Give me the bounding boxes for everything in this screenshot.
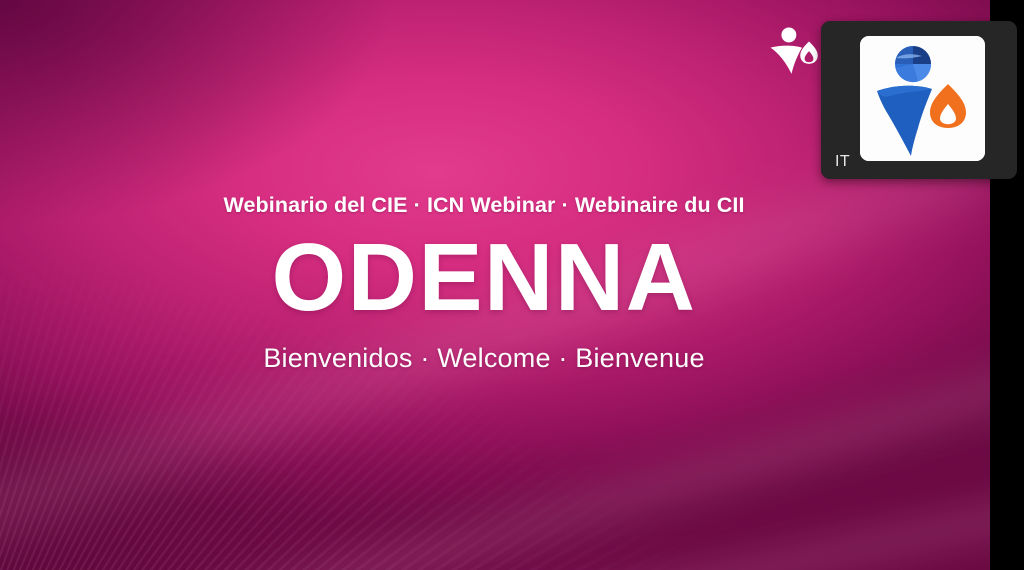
screen-share-view: Webinario del CIE · ICN Webinar · Webina… (0, 0, 1024, 570)
participant-video-tile[interactable]: IT (821, 21, 1017, 179)
slide-eyebrow-text: Webinario del CIE · ICN Webinar · Webina… (0, 193, 968, 219)
slide-headline-title: ODENNA (0, 230, 968, 326)
icn-globe-nurse-flame-avatar-icon (860, 36, 985, 161)
slide-subhead-text: Bienvenidos · Welcome · Bienvenue (0, 342, 968, 374)
participant-name-label: IT (835, 154, 850, 170)
icn-nurse-flame-logo-icon (767, 24, 823, 80)
